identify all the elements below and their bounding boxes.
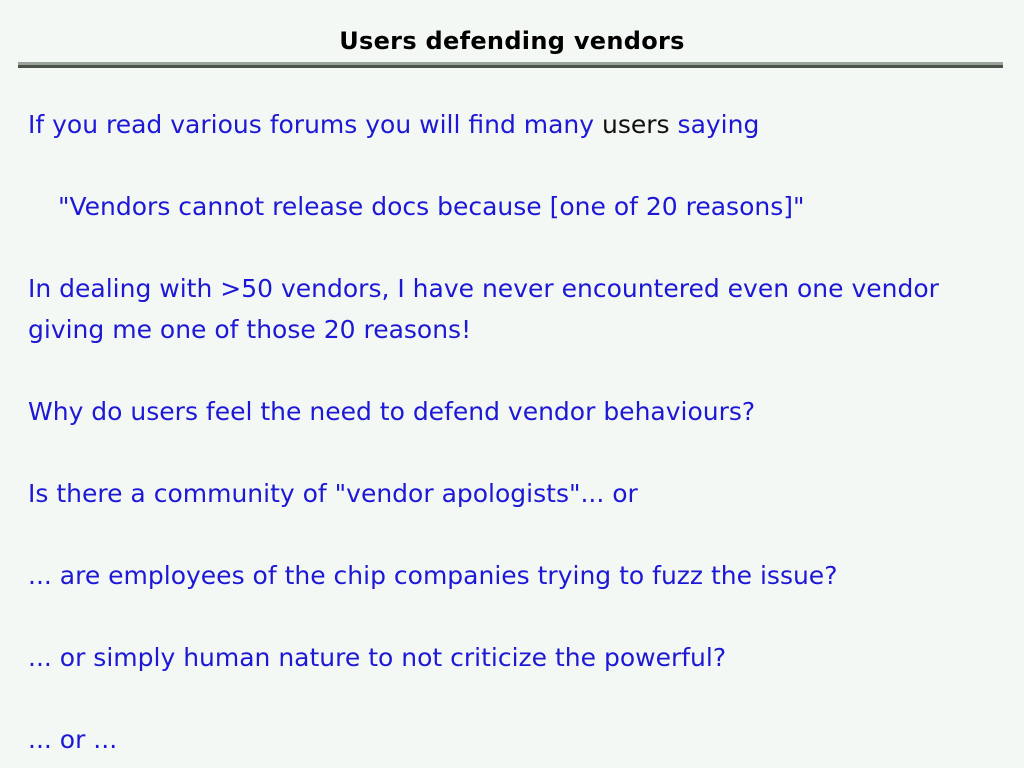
body-paragraph-3: In dealing with >50 vendors, I have neve… [28,268,1000,350]
body-paragraph-6: ... are employees of the chip companies … [28,555,1000,596]
body-paragraph-7: ... or simply human nature to not critic… [28,637,1000,678]
body-paragraph-8: ... or ... [28,719,1000,760]
page-title: Users defending vendors [0,26,1024,56]
body-paragraph-4: Why do users feel the need to defend ven… [28,391,1000,432]
body-paragraph-1-highlight: users [602,110,670,139]
body-paragraph-1: If you read various forums you will find… [28,104,1000,145]
divider-shadow [18,65,1003,68]
body-paragraph-1-part-b: saying [670,110,760,139]
body-paragraph-1-part-a: If you read various forums you will find… [28,110,602,139]
slide-canvas: Users defending vendors If you read vari… [0,0,1024,768]
slide-body: If you read various forums you will find… [28,104,1000,760]
body-paragraph-5: Is there a community of "vendor apologis… [28,473,1000,514]
body-paragraph-2-quote: "Vendors cannot release docs because [on… [58,186,1000,227]
title-divider [18,62,1003,68]
